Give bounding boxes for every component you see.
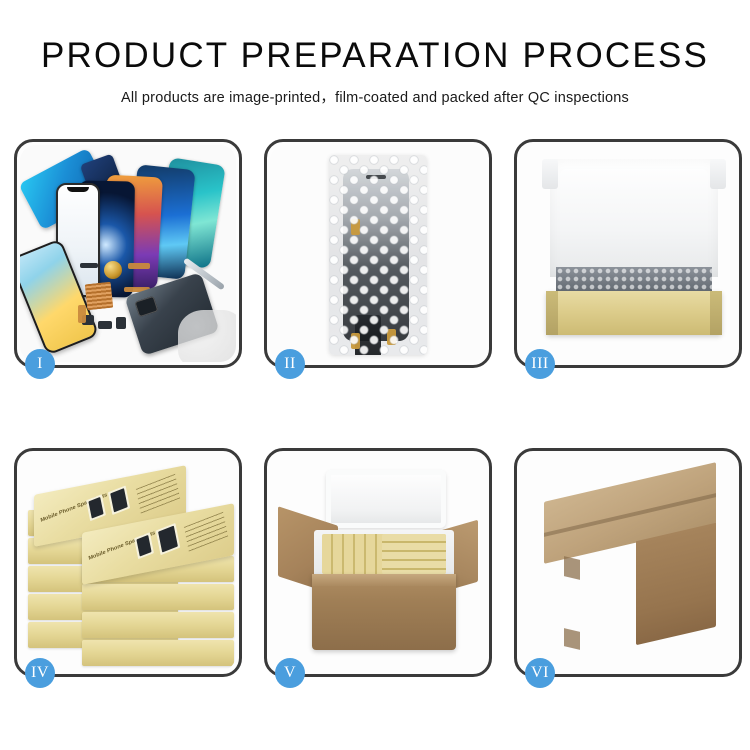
yellow-box-base	[546, 291, 722, 335]
notch-icon	[67, 187, 89, 192]
step-3-image	[520, 145, 736, 362]
process-step-3[interactable]: III	[514, 139, 742, 368]
page-root: PRODUCT PREPARATION PROCESS All products…	[0, 0, 750, 750]
process-grid: I II III	[14, 139, 736, 677]
carton-side-face	[636, 523, 716, 645]
chip-part-3	[98, 321, 112, 329]
box-stack: Mobile Phone Spare Parts Mobile Phone Sp…	[26, 476, 236, 666]
box-spec-lines-2	[184, 512, 228, 552]
box-spec-lines-1	[136, 474, 180, 514]
chip-part-4	[116, 317, 126, 329]
step-badge-3: III	[525, 349, 555, 379]
page-subtitle: All products are image-printed，film-coat…	[0, 86, 750, 107]
process-step-4[interactable]: Mobile Phone Spare Parts Mobile Phone Sp…	[14, 448, 242, 677]
carton-body-open	[312, 574, 456, 650]
box-side-9	[82, 640, 234, 666]
step-badge-2: II	[275, 349, 305, 379]
process-step-1[interactable]: I	[14, 139, 242, 368]
box-side-7	[82, 584, 234, 610]
step-2-image	[270, 145, 486, 362]
step-5-image	[270, 454, 486, 671]
chip-part-1	[80, 263, 98, 268]
bubble-wrap-bag	[329, 155, 427, 355]
hand	[178, 310, 236, 362]
process-step-2[interactable]: II	[264, 139, 492, 368]
step-badge-6: VI	[525, 658, 555, 688]
step-4-image: Mobile Phone Spare Parts Mobile Phone Sp…	[20, 454, 236, 671]
logic-board-part	[85, 282, 114, 311]
box-window-4	[156, 523, 181, 555]
step-6-image	[520, 454, 736, 671]
bubble-texture	[329, 155, 427, 355]
foam-box-lid	[326, 470, 446, 528]
carton-tape-upper	[564, 556, 580, 580]
flex-cable-1	[128, 263, 150, 269]
process-step-6[interactable]: VI	[514, 448, 742, 677]
carton-front-face	[544, 517, 636, 638]
speaker-part-icon	[104, 261, 122, 279]
process-step-5[interactable]: V	[264, 448, 492, 677]
box-side-8	[82, 612, 234, 638]
page-title: PRODUCT PREPARATION PROCESS	[0, 38, 750, 75]
foam-lid	[550, 159, 718, 277]
header: PRODUCT PREPARATION PROCESS All products…	[0, 0, 750, 107]
carton-tape-lower	[564, 628, 580, 650]
box-window-2	[108, 485, 130, 515]
step-badge-4: IV	[25, 658, 55, 688]
packed-boxes-row-2	[382, 534, 446, 574]
flex-cable-3	[78, 305, 86, 323]
step-badge-1: I	[25, 349, 55, 379]
step-badge-5: V	[275, 658, 305, 688]
step-1-image	[20, 145, 236, 362]
